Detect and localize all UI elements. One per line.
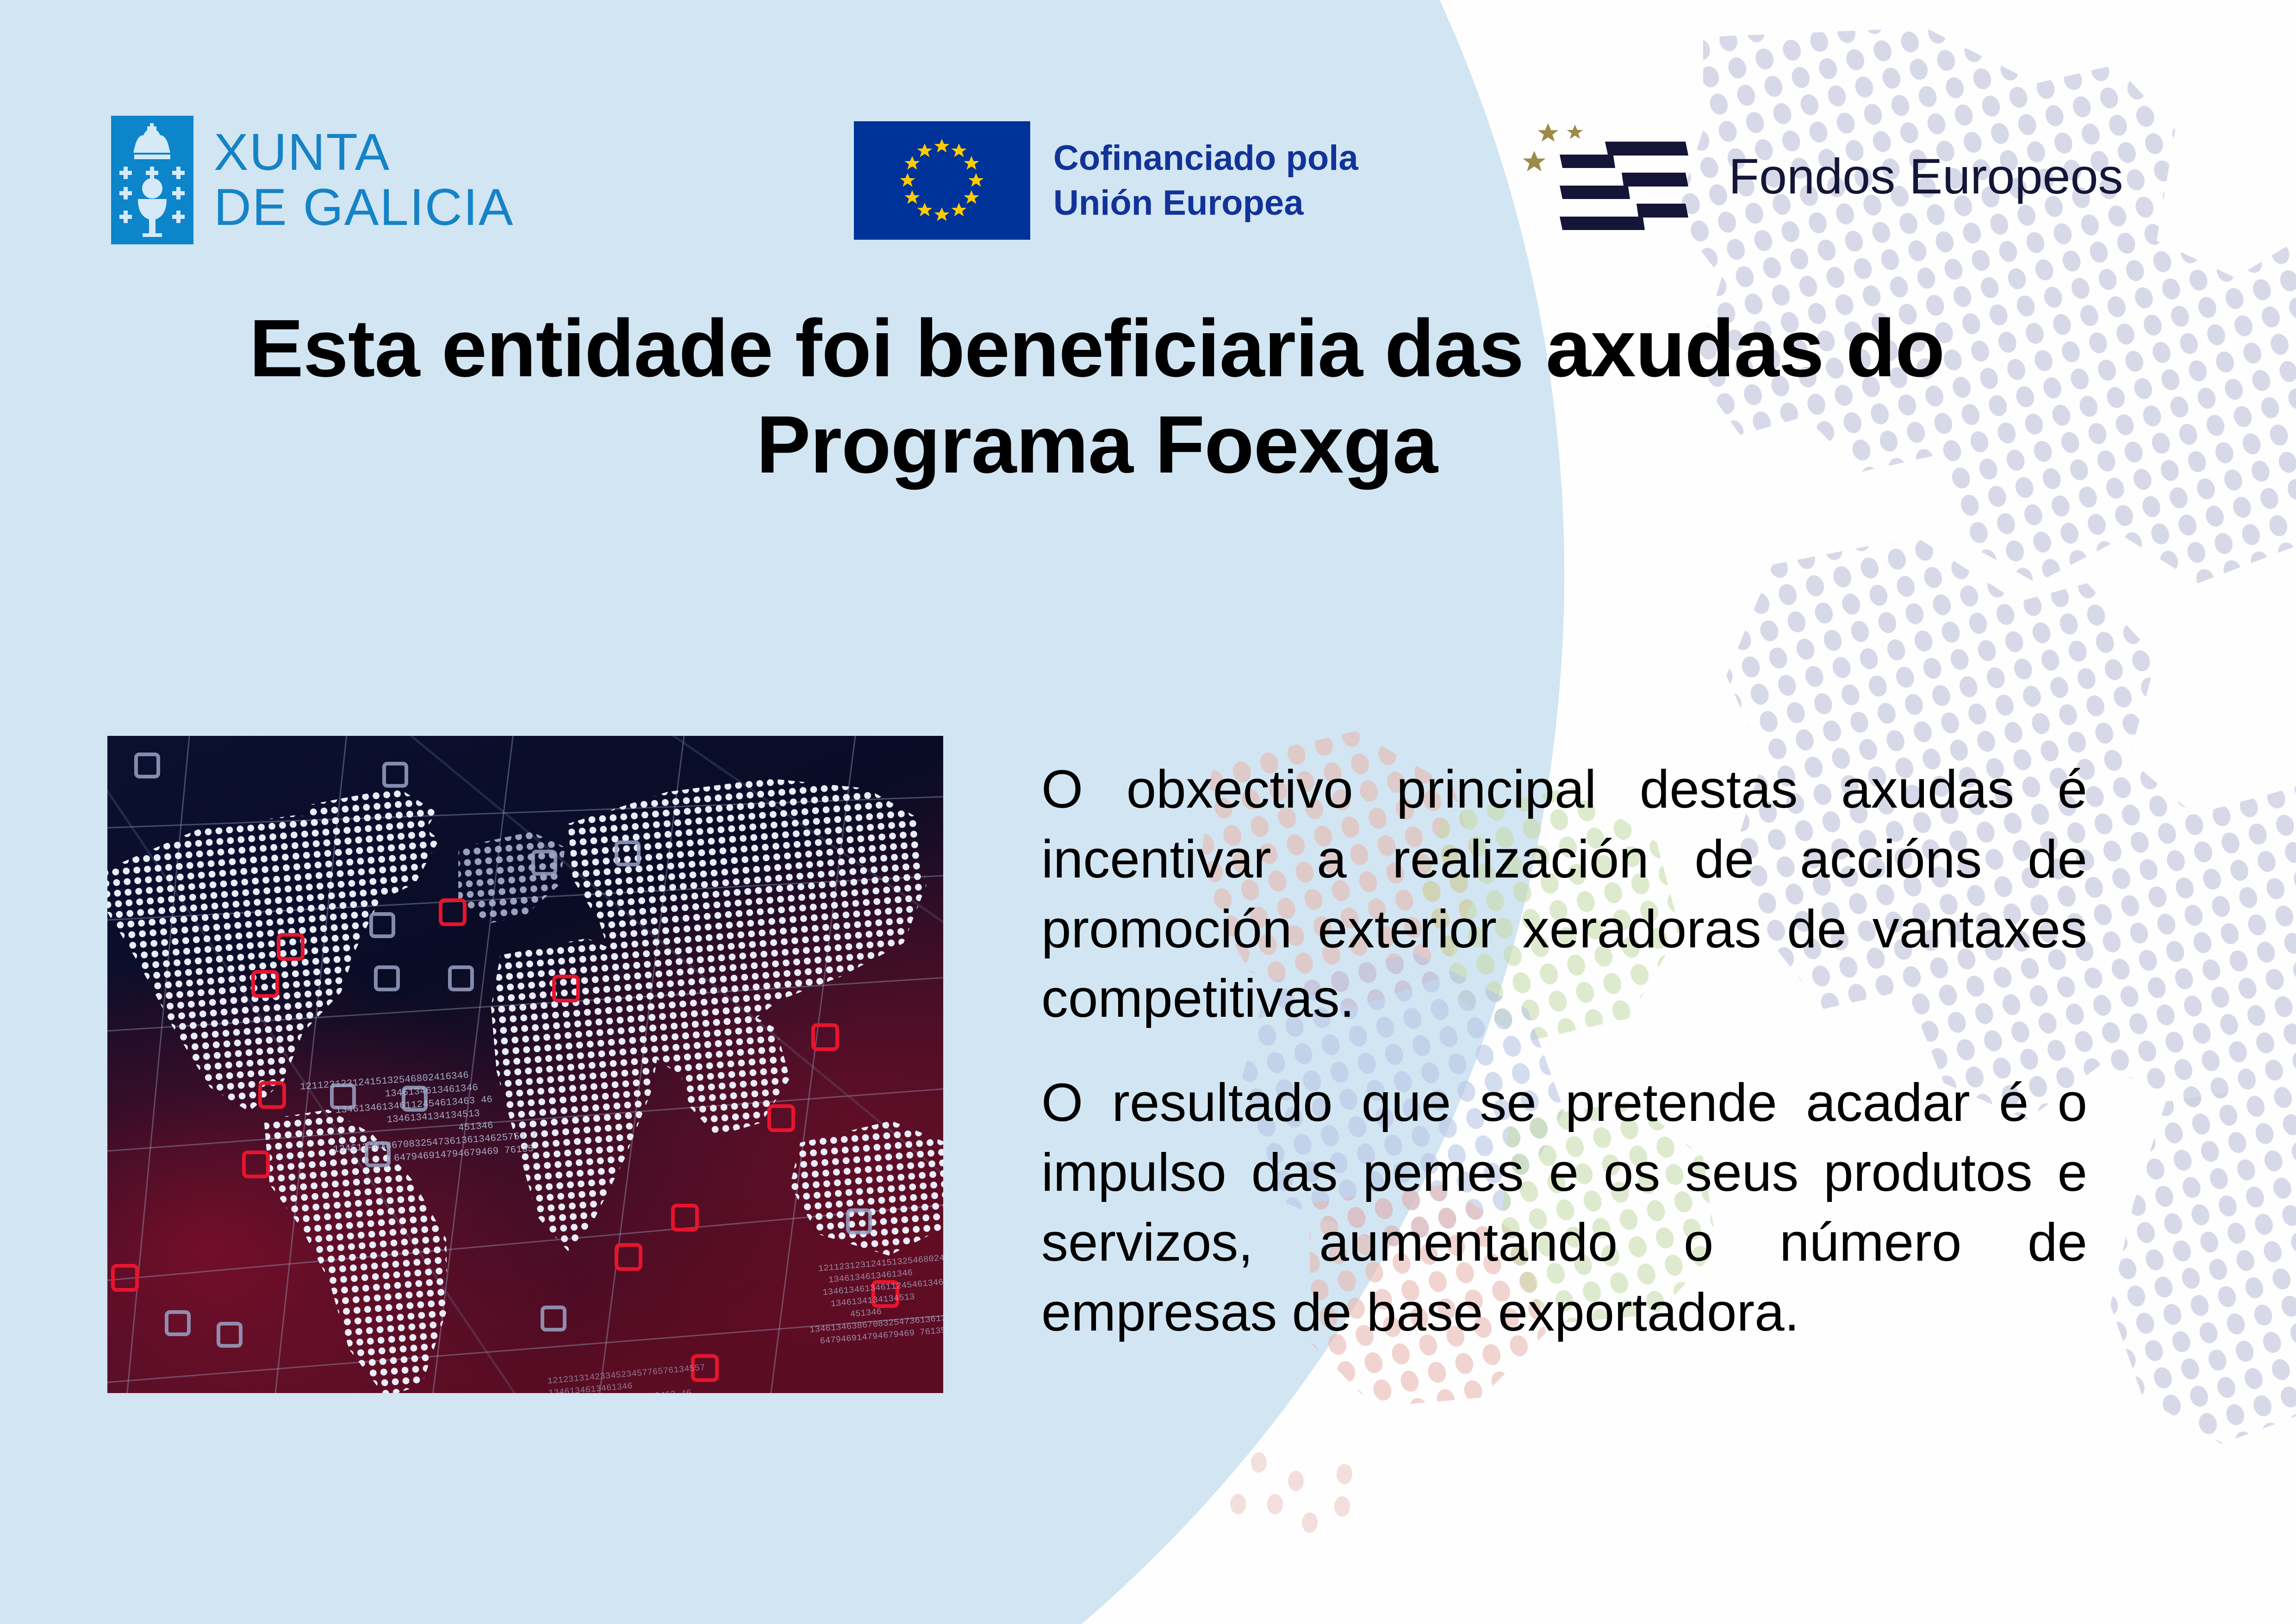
- logo-bar: XUNTADE GALICIA: [0, 0, 2296, 259]
- fondos-europeos-logo: Fondos Europeos: [1523, 106, 2123, 245]
- cofinanciado-pola-union-europea-logo: Cofinanciado polaUnión Europea: [854, 121, 1358, 240]
- fondos-bars: [1560, 142, 1688, 230]
- xunta-shield-icon: [111, 116, 193, 244]
- xunta-line2: DE GALICIA: [214, 178, 514, 236]
- xunta-wordmark: XUNTADE GALICIA: [214, 125, 514, 235]
- poster-root: XUNTADE GALICIA: [0, 0, 2296, 1624]
- xunta-line1: XUNTA: [214, 123, 390, 181]
- body-paragraph-2: O resultado que se pretende acadar é o i…: [1041, 1068, 2087, 1347]
- eu-line1: Cofinanciado pola: [1053, 138, 1358, 178]
- eu-line2: Unión Europea: [1053, 183, 1303, 223]
- title-line-2: Programa Foexga: [756, 399, 1437, 490]
- cofinanciado-wordmark: Cofinanciado polaUnión Europea: [1053, 136, 1358, 226]
- european-union-flag-icon: [854, 121, 1030, 240]
- title-line-1: Esta entidade foi beneficiaria das axuda…: [249, 303, 1945, 394]
- fondos-europeos-stepped-bars-icon: [1523, 106, 1703, 245]
- page-title: Esta entidade foi beneficiaria das axuda…: [102, 301, 2092, 493]
- body-copy: O obxectivo principal destas axudas é in…: [1041, 754, 2087, 1347]
- body-paragraph-1: O obxectivo principal destas axudas é in…: [1041, 754, 2087, 1033]
- xunta-de-galicia-logo: XUNTADE GALICIA: [111, 116, 514, 244]
- fondos-europeos-label: Fondos Europeos: [1729, 147, 2123, 205]
- world-map-digital-network-image: 12112312312415132546802416346 1346134613…: [107, 736, 943, 1393]
